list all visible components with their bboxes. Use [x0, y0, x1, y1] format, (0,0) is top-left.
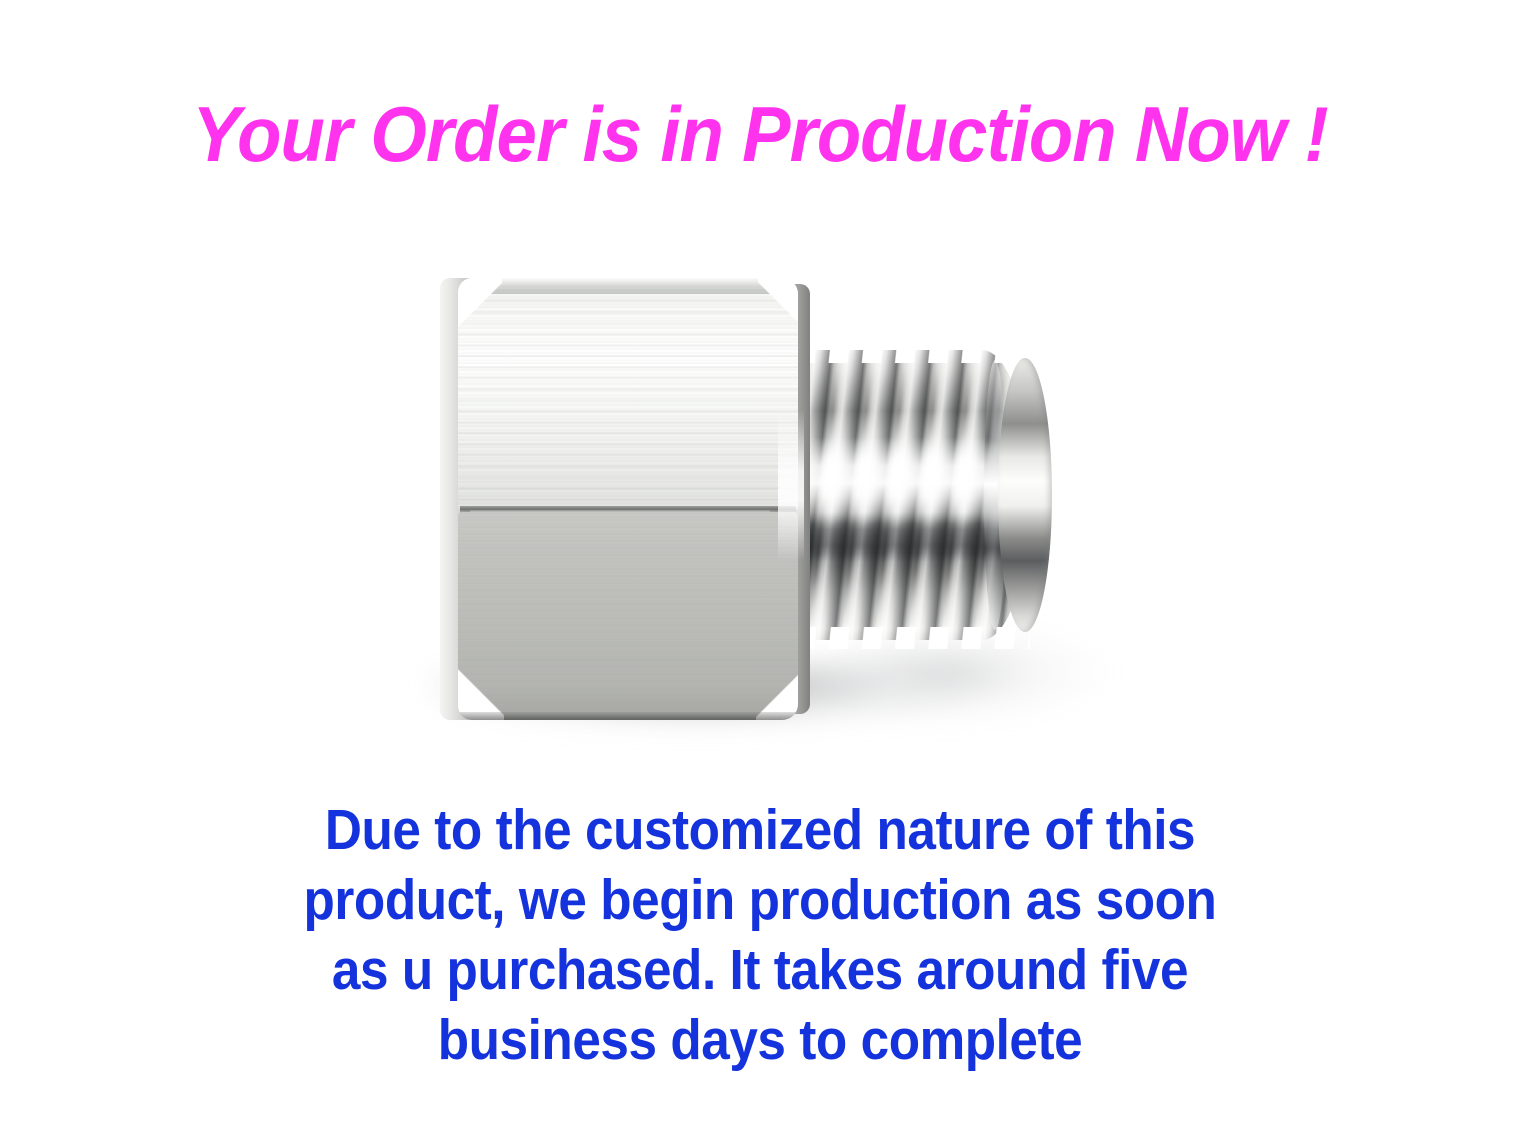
male-threaded-nipple: [770, 350, 1055, 640]
hex-facet-lower: [458, 512, 798, 720]
hex-top-bevel: [458, 278, 798, 294]
page-title: Your Order is in Production Now !: [53, 95, 1467, 173]
hex-bottom-edge: [458, 712, 798, 720]
hex-corner-bottom-left: [458, 658, 504, 720]
hex-corner-top-left: [458, 278, 502, 334]
brushed-metal-striations-lower: [458, 512, 798, 720]
thread-crest-top-silhouette: [774, 341, 1030, 363]
production-notice-line-3: as u purchased. It takes around five: [76, 935, 1444, 1005]
production-notice-line-4: business days to complete: [76, 1005, 1444, 1075]
brushed-metal-striations-fine: [458, 278, 798, 510]
promo-banner: Your Order is in Production Now !: [0, 0, 1520, 1140]
product-photo: [330, 230, 1230, 790]
female-hex-body: [440, 278, 800, 720]
production-notice: Due to the customized nature of this pro…: [76, 795, 1444, 1075]
hex-shoulder-highlight: [778, 410, 804, 560]
thread-crest-bottom-silhouette: [774, 627, 1030, 649]
hex-facet-upper: [458, 278, 798, 510]
production-notice-line-1: Due to the customized nature of this: [76, 795, 1444, 865]
production-notice-line-2: product, we begin production as soon: [76, 865, 1444, 935]
hex-corner-top-right: [758, 278, 798, 332]
thread-end-chamfer: [998, 358, 1052, 632]
